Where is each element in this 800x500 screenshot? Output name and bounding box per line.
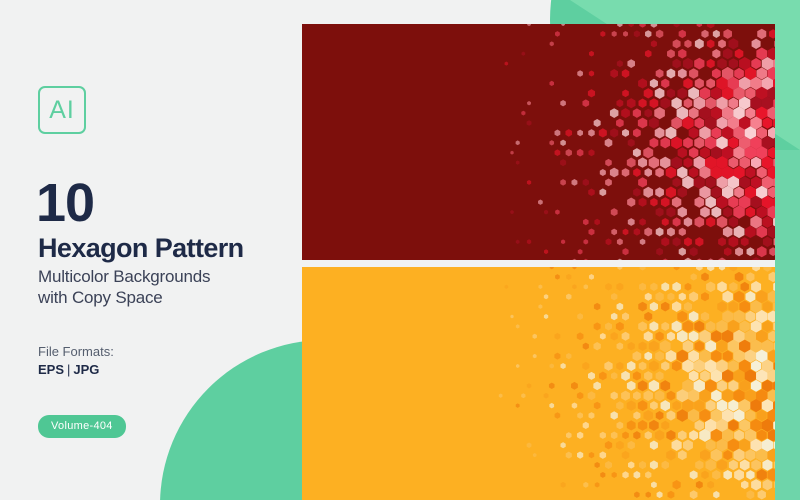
ai-logo-label: AI (49, 98, 75, 123)
file-formats-value: EPS|JPG (38, 362, 99, 377)
info-panel: AI 10 Hexagon Pattern Multicolor Backgro… (0, 0, 302, 500)
adobe-illustrator-logo-icon: AI (38, 86, 86, 134)
format-separator: | (64, 362, 73, 377)
green-block-right-decoration (775, 150, 800, 440)
orange-hexagon-halftone-graphic (302, 267, 775, 500)
page-subtitle: Multicolor Backgrounds with Copy Space (38, 267, 210, 308)
subtitle-line-2: with Copy Space (38, 288, 210, 309)
preview-orange-hexagon-pattern (302, 267, 775, 500)
volume-badge: Volume-404 (38, 415, 126, 438)
subtitle-line-1: Multicolor Backgrounds (38, 267, 210, 288)
page-title: Hexagon Pattern (38, 235, 244, 262)
file-formats-label: File Formats: (38, 344, 114, 359)
format-jpg: JPG (73, 362, 99, 377)
preview-canvas: AI 10 Hexagon Pattern Multicolor Backgro… (0, 0, 800, 500)
format-eps: EPS (38, 362, 64, 377)
item-count: 10 (36, 176, 94, 230)
red-hexagon-halftone-graphic (302, 24, 775, 260)
preview-red-hexagon-pattern (302, 24, 775, 260)
